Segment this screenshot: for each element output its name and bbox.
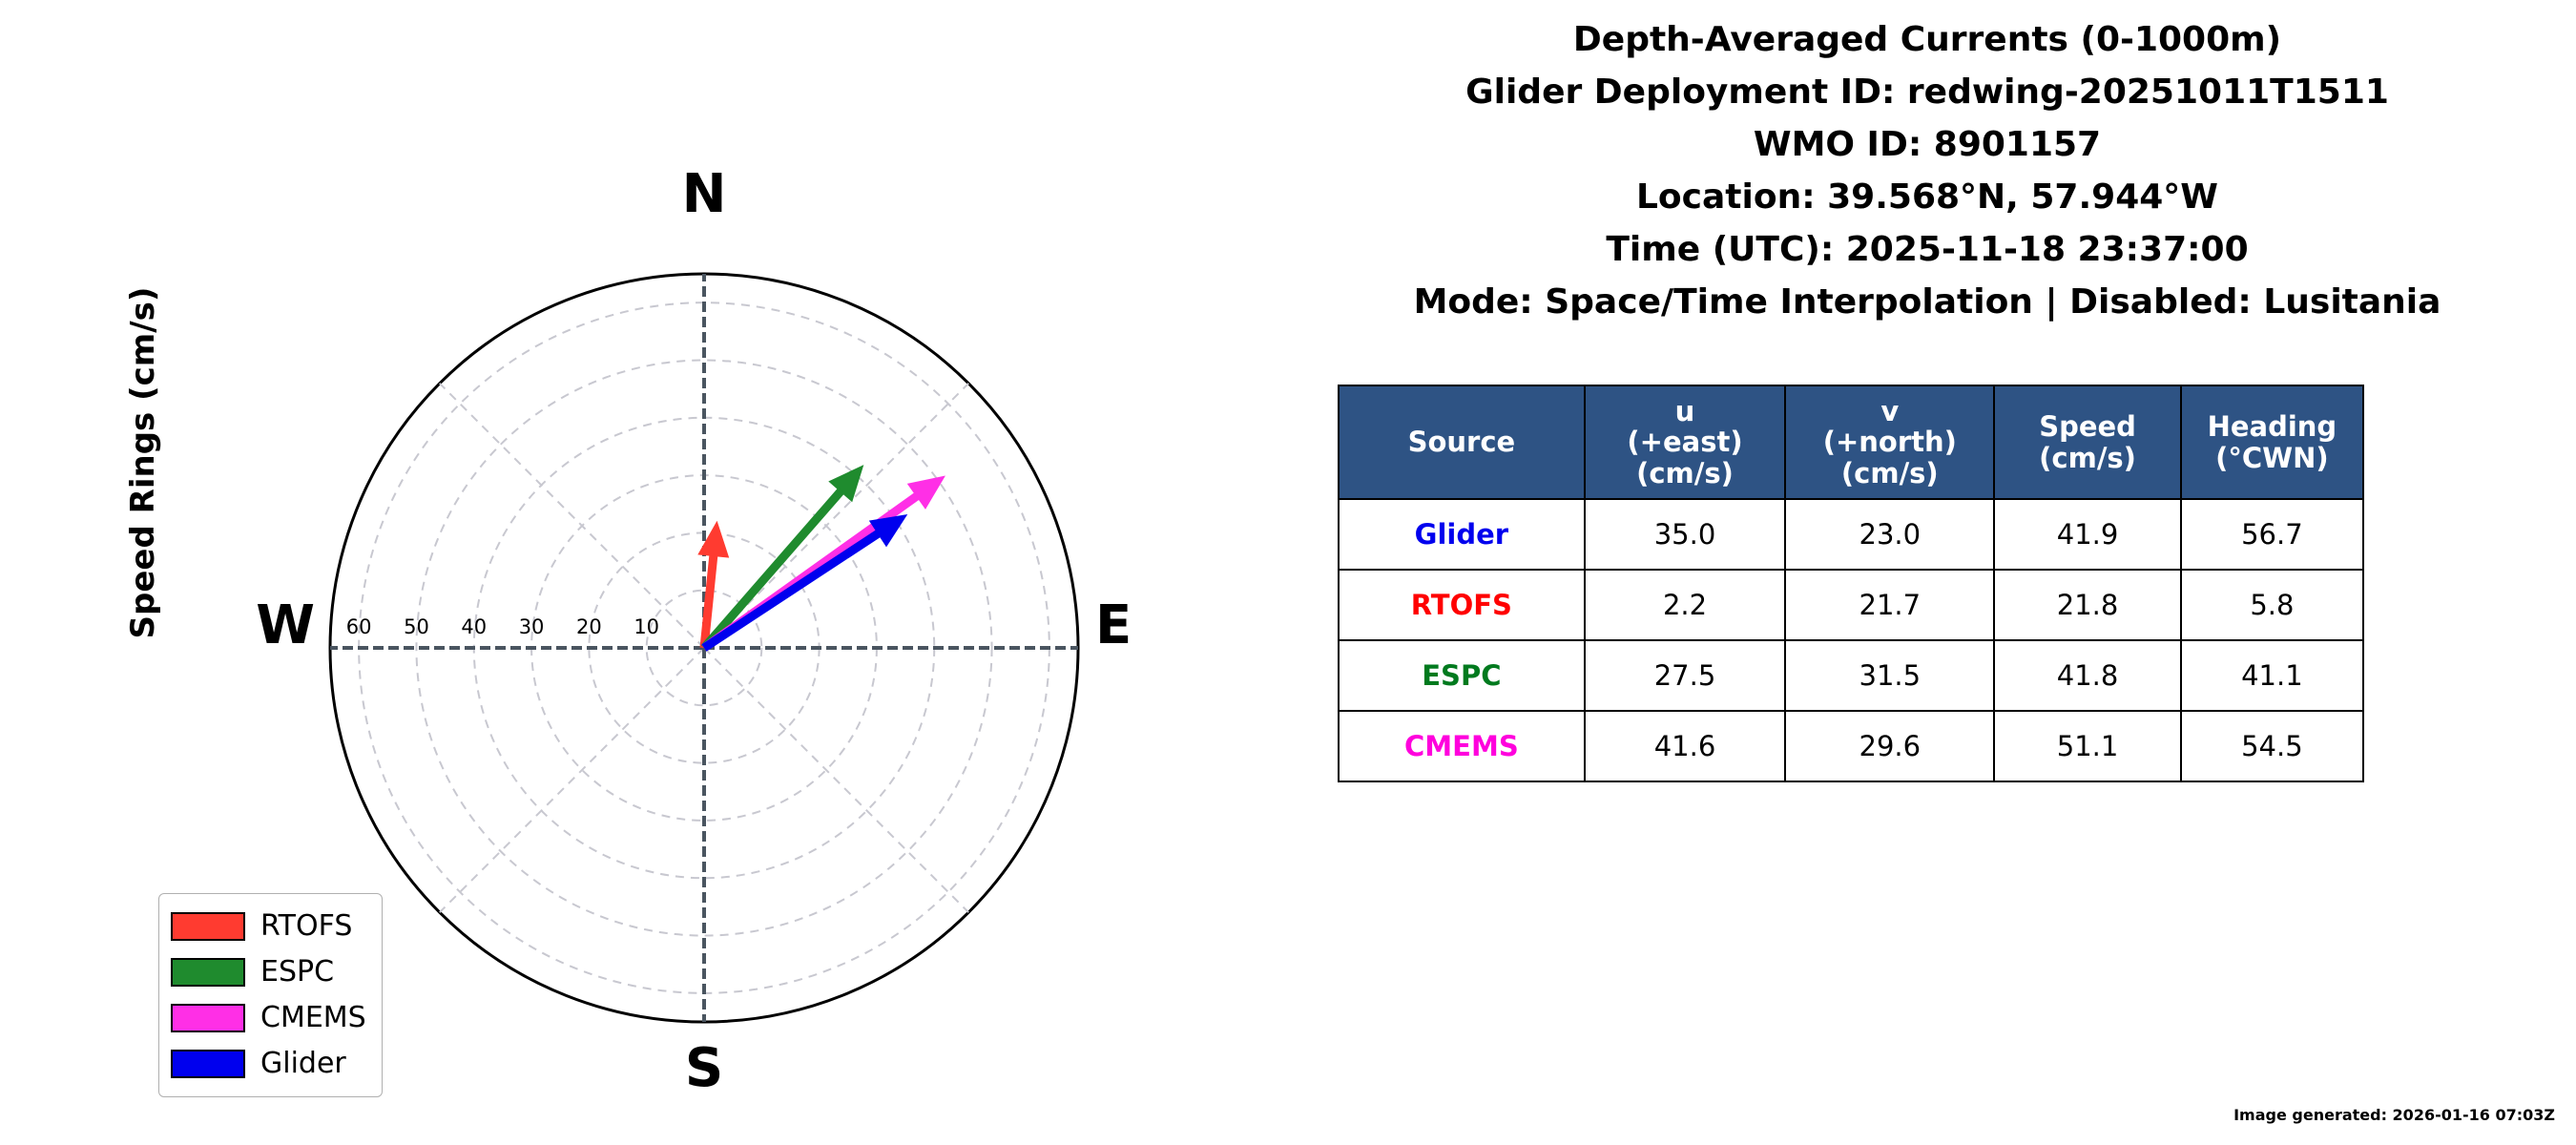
cardinal-label-east: E xyxy=(1095,599,1191,653)
legend-swatch-icon-rtofs xyxy=(171,912,245,941)
speed-ring-label-20: 20 xyxy=(560,615,617,638)
table-row: Glider35.023.041.956.7 xyxy=(1339,499,2363,570)
legend-label: Glider xyxy=(260,1050,346,1078)
currents-comparison-table: Sourceu(+east)(cm/s)v(+north)(cm/s)Speed… xyxy=(1338,385,2364,782)
legend-item-cmems[interactable]: CMEMS xyxy=(171,995,366,1041)
cardinal-label-south: S xyxy=(656,1042,752,1095)
vector-head-glider xyxy=(871,515,906,545)
table-cell-speed: 51.1 xyxy=(1994,711,2180,781)
legend-label: CMEMS xyxy=(260,1004,366,1032)
title-line-3: WMO ID: 8901157 xyxy=(1278,118,2576,171)
polar-spoke-315deg xyxy=(440,384,704,648)
table-header-cell-0: Source xyxy=(1339,385,1585,499)
info-panel: Depth-Averaged Currents (0-1000m)Glider … xyxy=(1278,0,2576,1145)
table-cell-v: 31.5 xyxy=(1785,640,1994,711)
table-cell-heading: 41.1 xyxy=(2181,640,2363,711)
legend-item-espc[interactable]: ESPC xyxy=(171,949,366,995)
table-cell-source: ESPC xyxy=(1339,640,1585,711)
table-cell-u: 35.0 xyxy=(1585,499,1786,570)
table-row: CMEMS41.629.651.154.5 xyxy=(1339,711,2363,781)
polar-radial-axis-label: Speed Rings (cm/s) xyxy=(114,262,172,663)
polar-spoke-135deg xyxy=(704,648,968,912)
series-legend: RTOFSESPCCMEMSGlider xyxy=(158,893,383,1097)
table-row: ESPC27.531.541.841.1 xyxy=(1339,640,2363,711)
header-text-line: (cm/s) xyxy=(1589,458,1781,489)
current-vector-arrows xyxy=(699,467,944,648)
cardinal-label-west: W xyxy=(219,599,315,653)
speed-ring-label-50: 50 xyxy=(387,615,445,638)
legend-swatch-icon-espc xyxy=(171,958,245,987)
speed-ring-label-10: 10 xyxy=(618,615,675,638)
header-text-line: Heading xyxy=(2186,411,2358,442)
speed-ring-label-40: 40 xyxy=(446,615,503,638)
header-text-line: (°CWN) xyxy=(2186,443,2358,473)
table-cell-source: Glider xyxy=(1339,499,1585,570)
header-text-line: (cm/s) xyxy=(1999,443,2175,473)
speed-ring-label-60: 60 xyxy=(330,615,387,638)
header-text-line: u xyxy=(1589,396,1781,427)
title-line-1: Depth-Averaged Currents (0-1000m) xyxy=(1278,13,2576,66)
table-body: Glider35.023.041.956.7RTOFS2.221.721.85.… xyxy=(1339,499,2363,781)
header-text-line: Source xyxy=(1343,427,1580,457)
legend-item-glider[interactable]: Glider xyxy=(171,1041,366,1087)
polar-plot-panel: N S E W Speed Rings (cm/s) 102030405060 … xyxy=(0,0,1278,1145)
legend-swatch-icon-glider xyxy=(171,1050,245,1078)
title-line-2: Glider Deployment ID: redwing-20251011T1… xyxy=(1278,66,2576,118)
legend-swatch-icon-cmems xyxy=(171,1004,245,1032)
polar-spoke-225deg xyxy=(440,648,704,912)
header-text-line: Speed xyxy=(1999,411,2175,442)
speed-ring-label-30: 30 xyxy=(503,615,560,638)
legend-label: ESPC xyxy=(260,958,334,987)
table-cell-source: CMEMS xyxy=(1339,711,1585,781)
table-cell-v: 29.6 xyxy=(1785,711,1994,781)
table-cell-source: RTOFS xyxy=(1339,570,1585,640)
table-row: RTOFS2.221.721.85.8 xyxy=(1339,570,2363,640)
table-header-cell-4: Heading(°CWN) xyxy=(2181,385,2363,499)
image-generated-stamp: Image generated: 2026-01-16 07:03Z xyxy=(2233,1106,2555,1124)
table-cell-heading: 56.7 xyxy=(2181,499,2363,570)
header-text-line: (cm/s) xyxy=(1790,458,1989,489)
table-header-cell-3: Speed(cm/s) xyxy=(1994,385,2180,499)
table-header-row: Sourceu(+east)(cm/s)v(+north)(cm/s)Speed… xyxy=(1339,385,2363,499)
header-text-line: (+north) xyxy=(1790,427,1989,457)
table-cell-u: 41.6 xyxy=(1585,711,1786,781)
header-text-line: v xyxy=(1790,396,1989,427)
table-cell-u: 27.5 xyxy=(1585,640,1786,711)
table-cell-speed: 41.8 xyxy=(1994,640,2180,711)
table-cell-v: 23.0 xyxy=(1785,499,1994,570)
legend-label: RTOFS xyxy=(260,912,352,941)
title-block: Depth-Averaged Currents (0-1000m)Glider … xyxy=(1278,13,2576,328)
table-header-cell-1: u(+east)(cm/s) xyxy=(1585,385,1786,499)
title-line-6: Mode: Space/Time Interpolation | Disable… xyxy=(1278,276,2576,328)
table-cell-speed: 21.8 xyxy=(1994,570,2180,640)
table-cell-v: 21.7 xyxy=(1785,570,1994,640)
table-cell-heading: 5.8 xyxy=(2181,570,2363,640)
cardinal-label-north: N xyxy=(656,168,752,221)
table-header-cell-2: v(+north)(cm/s) xyxy=(1785,385,1994,499)
table-cell-speed: 41.9 xyxy=(1994,499,2180,570)
table-cell-heading: 54.5 xyxy=(2181,711,2363,781)
legend-item-rtofs[interactable]: RTOFS xyxy=(171,904,366,949)
header-text-line: (+east) xyxy=(1589,427,1781,457)
title-line-4: Location: 39.568°N, 57.944°W xyxy=(1278,171,2576,223)
title-line-5: Time (UTC): 2025-11-18 23:37:00 xyxy=(1278,223,2576,276)
table-cell-u: 2.2 xyxy=(1585,570,1786,640)
